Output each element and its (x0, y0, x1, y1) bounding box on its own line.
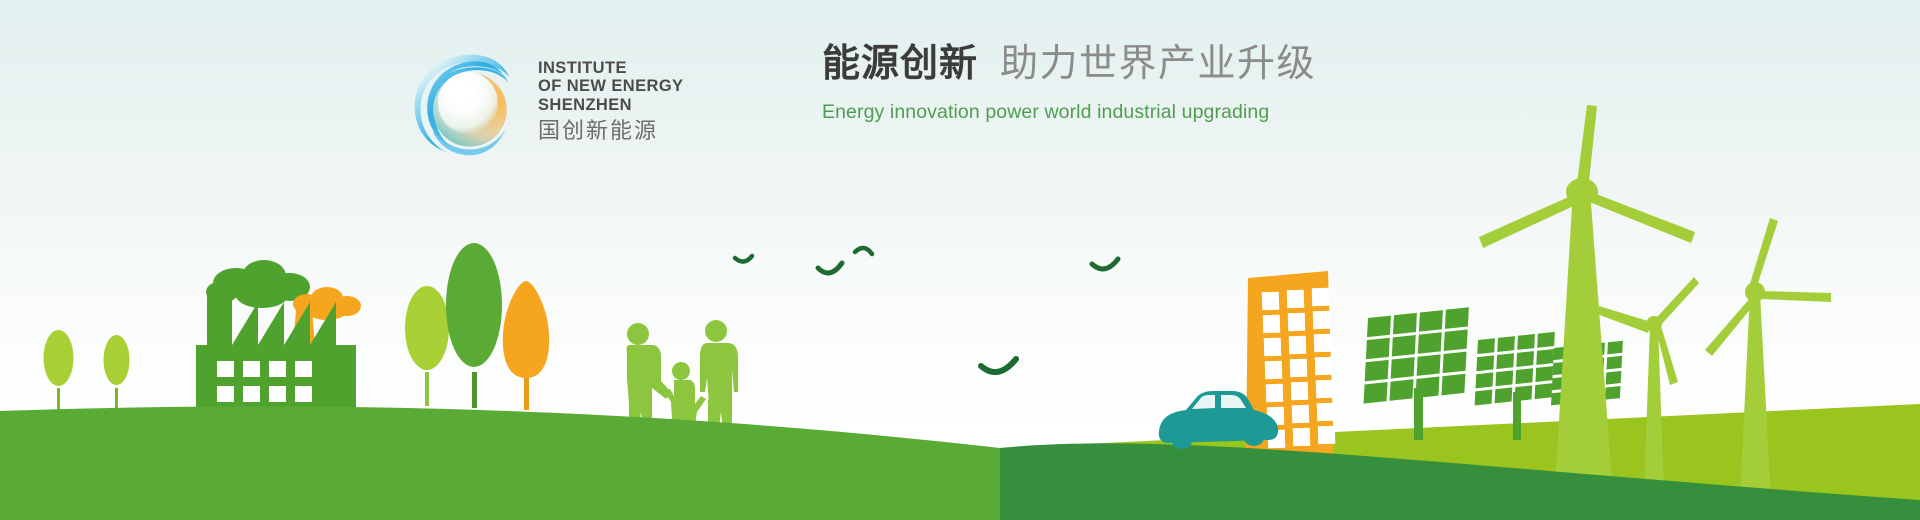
slogan-english: Energy innovation power world industrial… (822, 101, 1316, 124)
bird-1 (735, 256, 752, 262)
bird-5 (981, 359, 1016, 372)
logo-line-shenzhen: SHENZHEN (538, 96, 683, 115)
logo-line-of-new-energy: OF NEW ENERGY (538, 77, 683, 96)
bird-3 (855, 248, 872, 254)
solar-panel-large (1364, 307, 1469, 440)
slogan-headline-bold: 能源创新 (822, 41, 978, 85)
logo-wordmark: INSTITUTE OF NEW ENERGY SHENZHEN 国创新能源 (538, 59, 683, 148)
banner-root: INSTITUTE OF NEW ENERGY SHENZHEN 国创新能源 能… (0, 0, 1920, 520)
slogan-headline: 能源创新助力世界产业升级 (822, 44, 1316, 82)
tree-center-dark (446, 243, 502, 408)
small-tree-left-b (104, 335, 130, 410)
factory (196, 260, 361, 410)
logo-line-institute: INSTITUTE (538, 59, 683, 78)
bird-2 (818, 263, 842, 273)
tree-center-orange (503, 281, 549, 410)
globe-swoosh-logo-icon (406, 45, 522, 161)
tree-center-light (405, 286, 449, 406)
small-tree-left-a (44, 330, 74, 410)
birds (735, 248, 1118, 372)
logo-chinese-name: 国创新能源 (538, 117, 683, 147)
slogan-block: 能源创新助力世界产业升级 Energy innovation power wor… (822, 44, 1316, 124)
brand-logo[interactable]: INSTITUTE OF NEW ENERGY SHENZHEN 国创新能源 (406, 38, 706, 168)
bird-4 (1092, 259, 1118, 269)
hill-left (0, 406, 1000, 520)
slogan-headline-light: 助力世界产业升级 (1000, 41, 1316, 85)
